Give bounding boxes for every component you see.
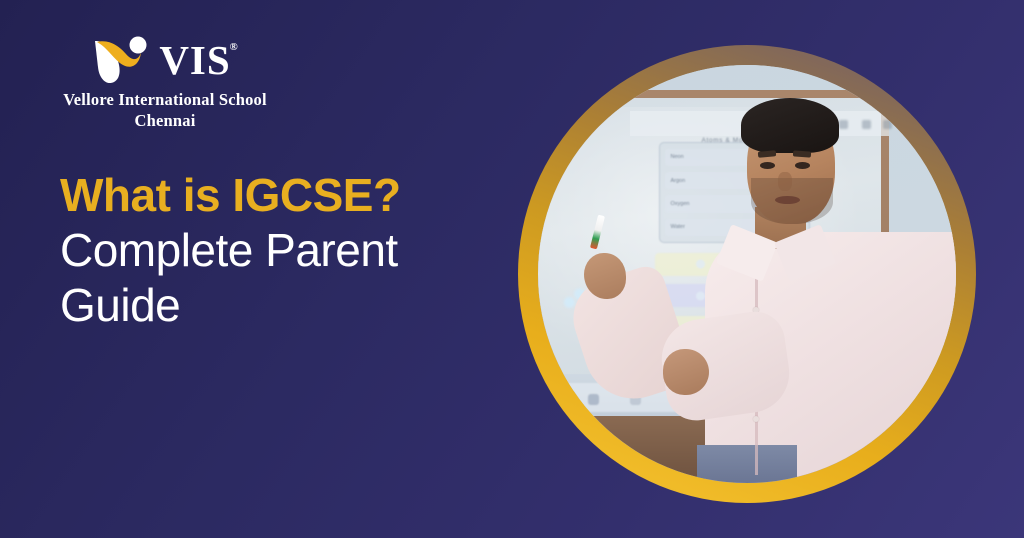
link-icon [839,120,848,129]
banner-canvas: VIS ® Vellore International School Chenn… [0,0,1024,538]
teacher-trousers [697,445,797,483]
headline: What is IGCSE? Complete Parent Guide [60,168,490,334]
list-item-label: Oxygen [670,201,689,207]
teacher-nose [778,172,792,191]
logo-wordmark: VIS ® [159,40,238,81]
list-item-label: Water [670,224,684,230]
headline-line-1: What is IGCSE? [60,168,490,223]
photo-ring-frame: Atoms & Molecules Neon Argon Oxygen Wate… [518,45,976,503]
headline-line-3: Guide [60,278,490,333]
flask-icon [696,291,705,300]
teacher-photo: Atoms & Molecules Neon Argon Oxygen Wate… [538,65,956,483]
files-icon [588,394,599,405]
logo-wordmark-text: VIS [159,37,230,83]
classroom-scene: Atoms & Molecules Neon Argon Oxygen Wate… [538,65,956,483]
vis-swoosh-person-icon [91,34,153,86]
teacher-hair [741,98,839,152]
headline-line-2: Complete Parent [60,223,490,278]
atom-icon [696,260,705,269]
list-item-label: Neon [670,154,683,160]
list-item-label: Argon [670,178,685,184]
school-logo[interactable]: VIS ® Vellore International School Chenn… [40,32,290,131]
teacher-eye-left [760,162,775,169]
registered-trademark-icon: ® [229,42,238,53]
teacher-eyebrow-right [793,150,812,158]
panel-icon [862,120,871,129]
shirt-button [753,416,759,422]
school-name: Vellore International School [40,90,290,110]
logo-lockup: VIS ® [40,32,290,88]
school-city: Chennai [40,111,290,131]
teacher-eye-right [795,162,810,169]
more-menu-icon [883,120,892,129]
teacher-left-hand [584,253,626,299]
